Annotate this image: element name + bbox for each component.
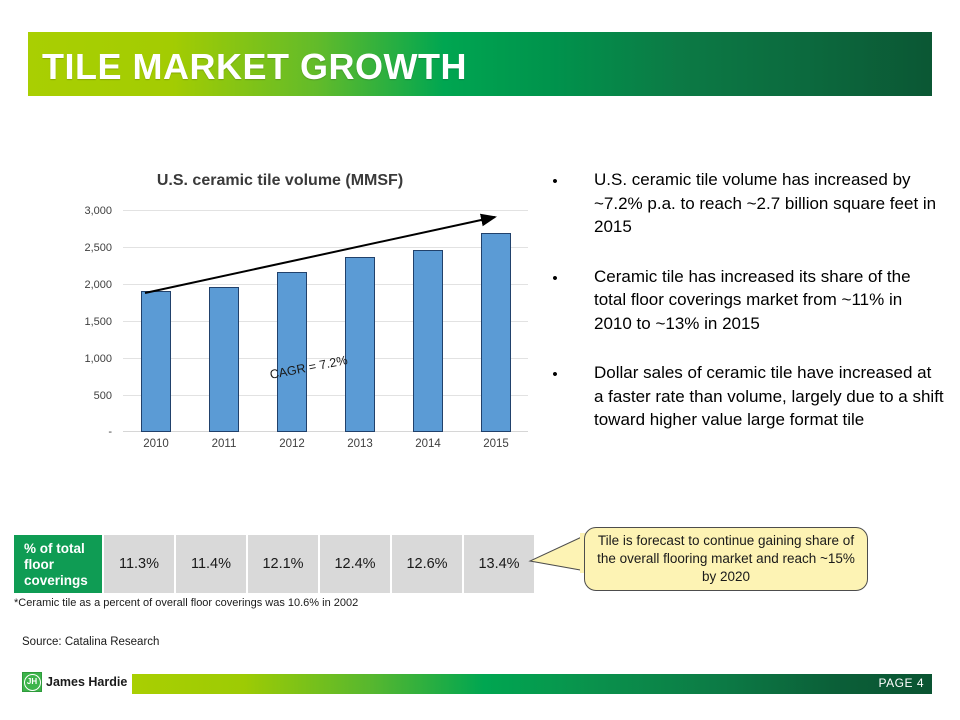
callout-bubble: Tile is forecast to continue gaining sha… <box>528 527 868 605</box>
x-label-2010: 2010 <box>129 438 183 450</box>
bullet-dot-icon: • <box>548 363 562 386</box>
x-label-2014: 2014 <box>401 438 455 450</box>
callout-text: Tile is forecast to continue gaining sha… <box>584 527 868 591</box>
table-row-header: % of total floor coverings <box>14 535 102 593</box>
logo-text: James Hardie <box>46 675 127 689</box>
table-cell-2011: 11.4% <box>176 535 246 593</box>
list-item: • Ceramic tile has increased its share o… <box>548 265 944 336</box>
y-axis-labels: 3,000 2,500 2,000 1,500 1,000 500 - <box>20 160 118 505</box>
bullet-dot-icon: • <box>548 170 562 193</box>
x-label-2011: 2011 <box>197 438 251 450</box>
james-hardie-logo-icon: JH <box>22 672 42 692</box>
y-tick-500: 500 <box>20 390 112 402</box>
x-label-2013: 2013 <box>333 438 387 450</box>
y-tick-1500: 1,500 <box>20 316 112 328</box>
list-item: • Dollar sales of ceramic tile have incr… <box>548 361 944 432</box>
percent-table: % of total floor coverings 11.3% 11.4% 1… <box>14 535 534 593</box>
y-tick-0: - <box>20 426 112 438</box>
cagr-arrow-icon <box>123 200 528 310</box>
page-number: PAGE 4 <box>879 676 924 690</box>
bullet-list: • U.S. ceramic tile volume has increased… <box>548 168 944 458</box>
x-label-2012: 2012 <box>265 438 319 450</box>
bullet-dot-icon: • <box>548 267 562 290</box>
logo-monogram: JH <box>24 674 41 691</box>
table-cell-2015: 13.4% <box>464 535 534 593</box>
bar-2010[interactable] <box>141 291 171 432</box>
footnote-text: *Ceramic tile as a percent of overall fl… <box>14 597 358 609</box>
chart-container: U.S. ceramic tile volume (MMSF) 3,000 2,… <box>20 160 540 505</box>
bullet-text: Ceramic tile has increased its share of … <box>594 265 944 336</box>
x-label-2015: 2015 <box>469 438 523 450</box>
footer-banner <box>132 674 932 694</box>
table-cell-2012: 12.1% <box>248 535 318 593</box>
x-axis-labels: 2010 2011 2012 2013 2014 2015 <box>123 438 528 458</box>
y-tick-2000: 2,000 <box>20 279 112 291</box>
table-cell-2010: 11.3% <box>104 535 174 593</box>
bullet-text: U.S. ceramic tile volume has increased b… <box>594 168 944 239</box>
y-tick-1000: 1,000 <box>20 353 112 365</box>
source-text: Source: Catalina Research <box>22 636 159 648</box>
table-cell-2014: 12.6% <box>392 535 462 593</box>
slide: TILE MARKET GROWTH U.S. ceramic tile vol… <box>0 0 960 720</box>
list-item: • U.S. ceramic tile volume has increased… <box>548 168 944 239</box>
y-tick-2500: 2,500 <box>20 242 112 254</box>
logo: JH James Hardie <box>22 672 127 692</box>
y-tick-3000: 3,000 <box>20 205 112 217</box>
page-title: TILE MARKET GROWTH <box>42 46 467 88</box>
bullet-text: Dollar sales of ceramic tile have increa… <box>594 361 944 432</box>
table-cell-2013: 12.4% <box>320 535 390 593</box>
